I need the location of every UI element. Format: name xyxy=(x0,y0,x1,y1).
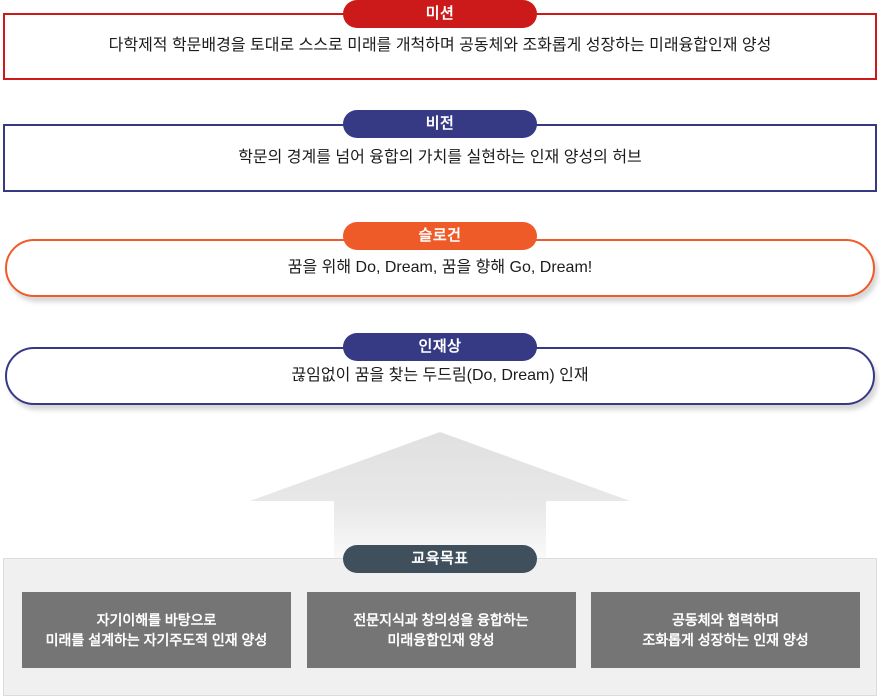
education-goal-box-1: 자기이해를 바탕으로 미래를 설계하는 자기주도적 인재 양성 xyxy=(22,592,291,668)
education-goals-badge: 교육목표 xyxy=(343,545,537,573)
up-arrow-icon xyxy=(250,431,630,563)
talent-profile-text: 끊임없이 꿈을 찾는 두드림(Do, Dream) 인재 xyxy=(265,365,614,387)
vision-text: 학문의 경계를 넘어 융합의 가치를 실현하는 인재 양성의 허브 xyxy=(212,147,668,169)
mission-text: 다학제적 학문배경을 토대로 스스로 미래를 개척하며 공동체와 조화롭게 성장… xyxy=(83,35,798,57)
education-goal-box-2: 전문지식과 창의성을 융합하는 미래융합인재 양성 xyxy=(307,592,576,668)
mission-vision-diagram: 다학제적 학문배경을 토대로 스스로 미래를 개척하며 공동체와 조화롭게 성장… xyxy=(0,0,880,700)
education-goals-panel: 자기이해를 바탕으로 미래를 설계하는 자기주도적 인재 양성 전문지식과 창의… xyxy=(3,558,877,696)
mission-badge: 미션 xyxy=(343,0,537,28)
slogan-text: 꿈을 위해 Do, Dream, 꿈을 향해 Go, Dream! xyxy=(262,257,618,279)
talent-profile-badge: 인재상 xyxy=(343,333,537,361)
education-goal-box-3: 공동체와 협력하며 조화롭게 성장하는 인재 양성 xyxy=(591,592,860,668)
slogan-badge: 슬로건 xyxy=(343,222,537,250)
education-goals-row: 자기이해를 바탕으로 미래를 설계하는 자기주도적 인재 양성 전문지식과 창의… xyxy=(22,592,860,668)
vision-badge: 비전 xyxy=(343,110,537,138)
